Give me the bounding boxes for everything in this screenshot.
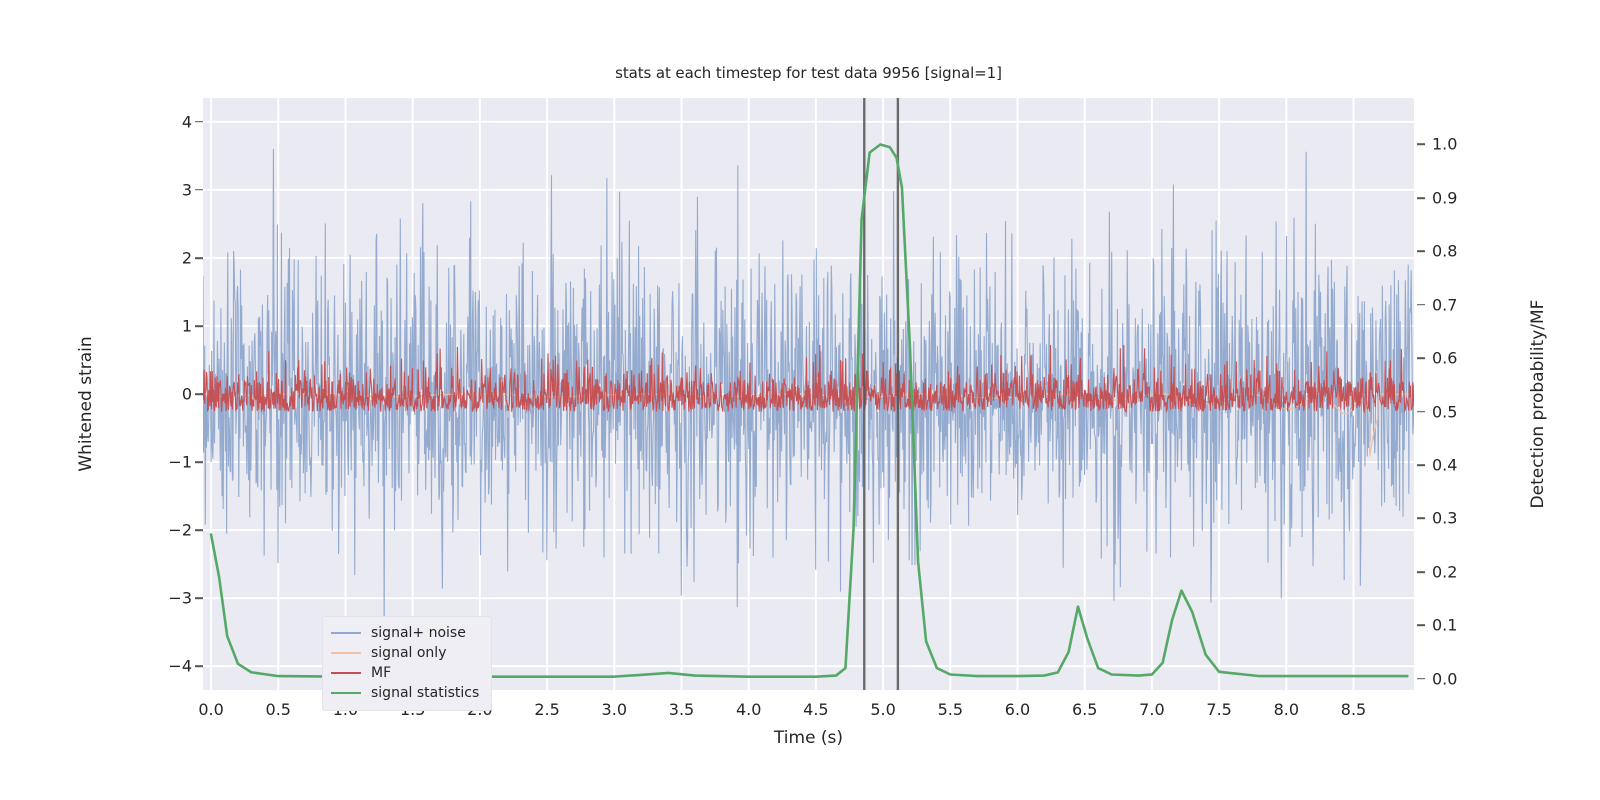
y-right-tick-mark [1417, 678, 1425, 680]
y-left-tick-mark [195, 461, 203, 463]
legend-label: signal+ noise [371, 625, 466, 641]
legend-label: MF [371, 665, 391, 681]
y-right-tick-label: 0.6 [1432, 349, 1457, 368]
y-left-tick-label: −2 [168, 521, 192, 540]
legend-item-3[interactable]: signal statistics [331, 683, 483, 703]
y-left-tick-label: 3 [182, 180, 192, 199]
y-right-tick-mark [1417, 197, 1425, 199]
y-right-tick-mark [1417, 571, 1425, 573]
y-right-tick-mark [1417, 357, 1425, 359]
plot-svg [203, 98, 1414, 690]
y-left-tick-mark [195, 257, 203, 259]
x-tick-label: 3.5 [669, 700, 694, 719]
x-tick-label: 6.0 [1005, 700, 1030, 719]
legend-label: signal only [371, 645, 446, 661]
x-tick-label: 7.5 [1206, 700, 1231, 719]
y-left-tick-label: −4 [168, 657, 192, 676]
y-right-tick-label: 0.4 [1432, 456, 1457, 475]
y-right-tick-label: 0.5 [1432, 402, 1457, 421]
y-right-tick-label: 0.8 [1432, 242, 1457, 261]
y-right-tick-mark [1417, 304, 1425, 306]
page-title: stats at each timestep for test data 995… [203, 64, 1414, 82]
legend-box[interactable]: signal+ noisesignal onlyMFsignal statist… [322, 616, 492, 711]
y-right-tick-mark [1417, 625, 1425, 627]
x-tick-label: 0.5 [266, 700, 291, 719]
x-tick-label: 7.0 [1139, 700, 1164, 719]
y-right-tick-label: 0.0 [1432, 669, 1457, 688]
y-left-tick-label: −1 [168, 453, 192, 472]
x-tick-label: 3.0 [602, 700, 627, 719]
legend-swatch-icon [331, 672, 361, 674]
y-left-tick-mark [195, 393, 203, 395]
y-right-tick-mark [1417, 144, 1425, 146]
legend-swatch-icon [331, 652, 361, 654]
figure-canvas: stats at each timestep for test data 995… [0, 0, 1600, 800]
y-right-tick-label: 1.0 [1432, 135, 1457, 154]
legend-swatch-icon [331, 632, 361, 634]
legend-item-1[interactable]: signal only [331, 643, 483, 663]
y-right-tick-mark [1417, 464, 1425, 466]
x-tick-label: 8.0 [1274, 700, 1299, 719]
y-right-tick-mark [1417, 411, 1425, 413]
y-left-tick-mark [195, 665, 203, 667]
y-right-tick-mark [1417, 251, 1425, 253]
x-tick-label: 5.0 [870, 700, 895, 719]
x-tick-label: 6.5 [1072, 700, 1097, 719]
legend-item-0[interactable]: signal+ noise [331, 623, 483, 643]
y-left-tick-label: 0 [182, 385, 192, 404]
x-tick-label: 4.5 [803, 700, 828, 719]
y-left-tick-mark [195, 121, 203, 123]
y-left-tick-label: 1 [182, 316, 192, 335]
y-right-tick-label: 0.2 [1432, 562, 1457, 581]
x-tick-label: 8.5 [1341, 700, 1366, 719]
legend-swatch-icon [331, 692, 361, 694]
y-left-tick-label: 2 [182, 248, 192, 267]
x-axis-label: Time (s) [203, 728, 1414, 748]
y-left-tick-mark [195, 597, 203, 599]
x-tick-label: 5.5 [938, 700, 963, 719]
y-axis-left-label: Whitened strain [76, 274, 96, 534]
y-left-tick-mark [195, 529, 203, 531]
y-left-tick-mark [195, 189, 203, 191]
y-right-tick-label: 0.3 [1432, 509, 1457, 528]
y-right-tick-label: 0.9 [1432, 188, 1457, 207]
x-tick-label: 0.0 [198, 700, 223, 719]
y-left-tick-label: −3 [168, 589, 192, 608]
y-right-tick-label: 0.1 [1432, 616, 1457, 635]
plot-area [203, 98, 1414, 690]
y-left-tick-label: 4 [182, 112, 192, 131]
x-tick-label: 4.0 [736, 700, 761, 719]
y-axis-right-label: Detection probability/MF [1528, 254, 1548, 554]
legend-item-2[interactable]: MF [331, 663, 483, 683]
x-tick-label: 2.5 [534, 700, 559, 719]
legend-label: signal statistics [371, 685, 479, 701]
y-left-tick-mark [195, 325, 203, 327]
y-right-tick-label: 0.7 [1432, 295, 1457, 314]
y-right-tick-mark [1417, 518, 1425, 520]
